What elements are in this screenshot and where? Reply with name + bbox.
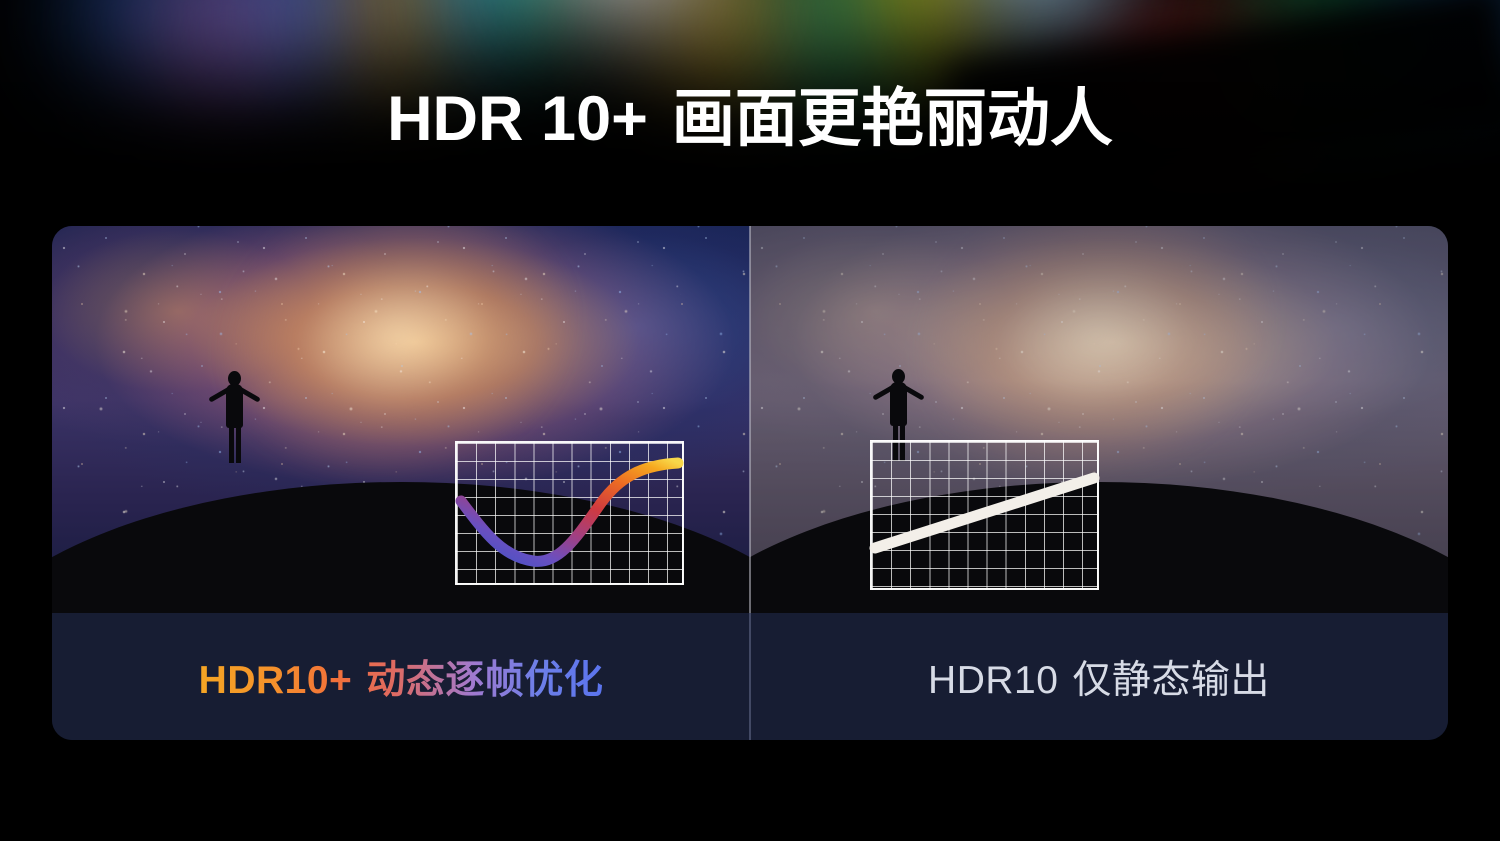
caption-hdr10plus-cjk: 动态逐帧优化	[366, 659, 603, 702]
comparison-card: HDR10+动态逐帧优化 HDR10仅静态输出	[52, 226, 1448, 740]
person-silhouette	[204, 371, 264, 463]
panel-divider	[749, 226, 751, 613]
panel-hdr10plus-image	[52, 226, 750, 613]
caption-hdr10: HDR10仅静态输出	[750, 613, 1448, 740]
tone-line-svg	[870, 440, 1099, 590]
caption-hdr10-latin: HDR10	[928, 659, 1058, 702]
caption-hdr10plus-latin: HDR10+	[199, 659, 353, 702]
page-title: HDR 10+画面更艳丽动人	[0, 86, 1500, 152]
panel-hdr10-image	[750, 226, 1448, 613]
page-title-cjk: 画面更艳丽动人	[672, 84, 1113, 154]
caption-hdr10plus: HDR10+动态逐帧优化	[52, 613, 750, 740]
comparison-panes	[52, 226, 1448, 613]
hdr-promo-slide: HDR 10+画面更艳丽动人	[0, 0, 1500, 841]
caption-hdr10-text: HDR10仅静态输出	[928, 649, 1270, 705]
page-title-latin: HDR 10+	[387, 84, 648, 154]
tone-curve-svg	[455, 441, 684, 585]
caption-hdr10-cjk: 仅静态输出	[1072, 659, 1270, 702]
caption-bar: HDR10+动态逐帧优化 HDR10仅静态输出	[52, 613, 1448, 740]
caption-hdr10plus-text: HDR10+动态逐帧优化	[199, 649, 604, 705]
dynamic-tone-curve-graph	[455, 441, 684, 585]
static-tone-line-graph	[870, 440, 1099, 590]
night-sky-artwork-flat	[750, 226, 1448, 613]
caption-divider	[749, 613, 751, 740]
